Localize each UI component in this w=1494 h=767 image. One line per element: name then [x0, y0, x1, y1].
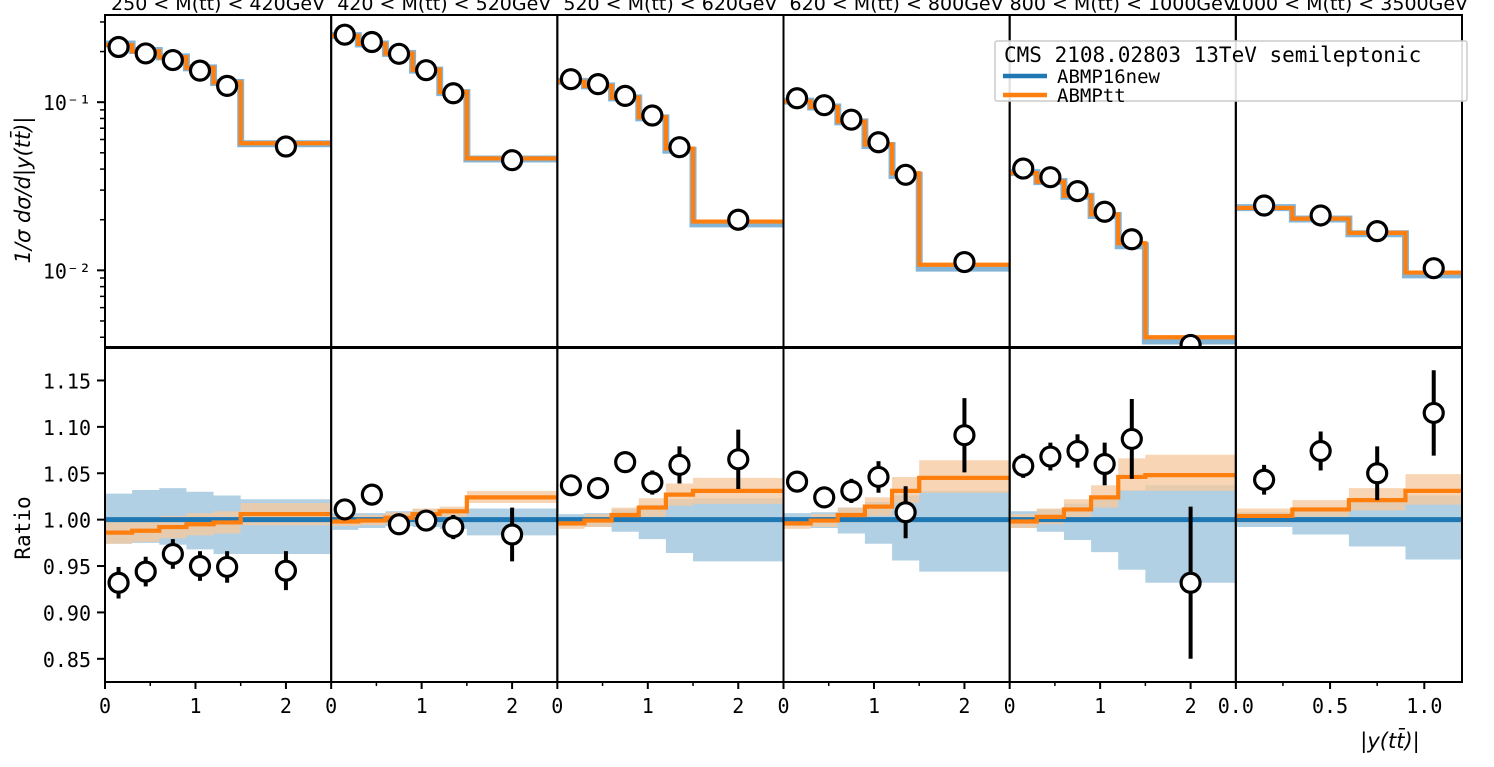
ratio-data-marker: [335, 500, 354, 519]
top-data-marker: [788, 89, 807, 108]
top-data-marker: [1255, 196, 1274, 215]
x-tick-label: 1: [189, 694, 201, 718]
top-data-marker: [842, 110, 861, 129]
top-data-marker: [1095, 202, 1114, 221]
x-tick-label: 0.0: [1218, 694, 1254, 718]
legend: CMS 2108.02803 13TeV semileptonicABMP16n…: [995, 41, 1467, 107]
ratio-data-marker: [1041, 447, 1060, 466]
ratio-data-marker: [561, 476, 580, 495]
ratio-data-marker: [788, 472, 807, 491]
x-tick-label: 0: [777, 694, 789, 718]
top-data-marker: [670, 138, 689, 157]
top-y-tick-label: 10⁻¹: [43, 91, 91, 115]
panel-title-1: 250 < M(tt̄) < 420GeV: [111, 0, 325, 15]
ratio-data-marker: [842, 481, 861, 500]
ratio-data-marker: [1368, 464, 1387, 483]
ratio-data-marker: [729, 450, 748, 469]
ratio-y-tick-label: 1.10: [43, 416, 91, 440]
top-data-marker: [561, 70, 580, 89]
ratio-data-marker: [815, 488, 834, 507]
ratio-data-marker: [1068, 441, 1087, 460]
ratio-data-marker: [218, 557, 237, 576]
top-data-marker: [163, 51, 182, 70]
ratio-data-marker: [670, 455, 689, 474]
ratio-axis-label-group: Ratio: [11, 496, 35, 559]
top-data-marker: [616, 86, 635, 105]
ratio-data-marker: [136, 562, 155, 581]
ratio-y-tick-label: 0.85: [43, 648, 91, 672]
top-y-axis-label: 1/σ dσ/d|y(tt̄)|: [10, 117, 36, 264]
top-data-marker: [1311, 206, 1330, 225]
ratio-data-marker: [1122, 429, 1141, 448]
ratio-data-marker: [1014, 456, 1033, 475]
top-data-marker: [335, 25, 354, 44]
ratio-data-marker: [955, 426, 974, 445]
top-data-marker: [955, 253, 974, 272]
ratio-data-marker: [362, 485, 381, 504]
top-data-marker: [503, 151, 522, 170]
top-data-marker: [390, 44, 409, 63]
x-tick-label: 0: [325, 694, 337, 718]
top-data-marker: [1368, 222, 1387, 241]
x-tick-label: 0: [1004, 694, 1016, 718]
top-data-marker: [218, 76, 237, 95]
x-tick-label: 1: [1094, 694, 1106, 718]
top-data-marker: [417, 61, 436, 80]
top-data-marker: [109, 37, 128, 56]
top-y-tick-label: 10⁻²: [43, 259, 91, 283]
ratio-data-marker: [444, 518, 463, 537]
x-axis-label-group: |y(tt̄)|: [1360, 728, 1419, 754]
ratio-data-marker: [869, 467, 888, 486]
x-tick-label: 1: [416, 694, 428, 718]
figure-background: [0, 0, 1494, 767]
x-tick-label: 2: [958, 694, 970, 718]
top-data-marker: [1014, 159, 1033, 178]
x-tick-label: 1: [868, 694, 880, 718]
top-data-marker: [276, 137, 295, 156]
panel-title-2: 420 < M(tt̄) < 520GeV: [337, 0, 551, 15]
figure-canvas: 1/σ dσ/d|y(tt̄)| Ratio |y(tt̄)| 250 < M(…: [0, 0, 1494, 767]
top-data-marker: [869, 133, 888, 152]
top-data-marker: [589, 75, 608, 94]
panel-title-3: 520 < M(tt̄) < 620GeV: [563, 0, 777, 15]
x-tick-label: 2: [1185, 694, 1197, 718]
ratio-y-tick-label: 1.15: [43, 369, 91, 393]
top-data-marker: [729, 210, 748, 229]
ratio-data-marker: [589, 479, 608, 498]
ratio-y-tick-label: 1.00: [43, 509, 91, 533]
ratio-data-marker: [276, 561, 295, 580]
legend-label-abmptt: ABMPtt: [1057, 85, 1126, 107]
ratio-y-tick-label: 1.05: [43, 462, 91, 486]
ratio-data-marker: [1311, 441, 1330, 460]
top-data-marker: [362, 33, 381, 52]
ratio-y-axis-label: Ratio: [11, 496, 35, 559]
panel-title-4: 620 < M(tt̄) < 800GeV: [790, 0, 1004, 15]
legend-title: CMS 2108.02803 13TeV semileptonic: [1004, 43, 1421, 67]
top-data-marker: [190, 61, 209, 80]
x-tick-label: 0: [99, 694, 111, 718]
x-tick-label: 0: [551, 694, 563, 718]
x-tick-label: 0.5: [1312, 694, 1348, 718]
top-data-marker: [1424, 259, 1443, 278]
ratio-data-marker: [1424, 403, 1443, 422]
ratio-data-marker: [163, 544, 182, 563]
ratio-data-marker: [643, 473, 662, 492]
ratio-data-marker: [1181, 573, 1200, 592]
plot-svg: 1/σ dσ/d|y(tt̄)| Ratio |y(tt̄)| 250 < M(…: [0, 0, 1494, 767]
top-data-marker: [643, 106, 662, 125]
ratio-data-marker: [190, 557, 209, 576]
top-data-marker: [815, 96, 834, 115]
ratio-data-marker: [616, 453, 635, 472]
x-tick-label: 2: [506, 694, 518, 718]
top-data-marker: [1068, 182, 1087, 201]
top-data-marker: [136, 44, 155, 63]
x-tick-label: 1.0: [1406, 694, 1442, 718]
top-axis-label-group: 1/σ dσ/d|y(tt̄)|: [10, 117, 36, 264]
ratio-data-marker: [109, 573, 128, 592]
top-data-marker: [444, 84, 463, 103]
panel-title-5: 800 < M(tt̄) < 1000GeV: [1010, 0, 1236, 15]
ratio-data-marker: [1095, 454, 1114, 473]
x-tick-label: 2: [280, 694, 292, 718]
ratio-data-marker: [503, 525, 522, 544]
ratio-data-marker: [1255, 470, 1274, 489]
panel-title-6: 1000 < M(tt̄) < 3500GeV: [1230, 0, 1468, 15]
top-data-marker: [1041, 168, 1060, 187]
ratio-data-marker: [390, 515, 409, 534]
x-tick-label: 1: [642, 694, 654, 718]
ratio-y-tick-label: 0.95: [43, 555, 91, 579]
x-tick-label: 2: [732, 694, 744, 718]
ratio-data-marker: [417, 511, 436, 530]
top-data-marker: [1122, 230, 1141, 249]
x-axis-label: |y(tt̄)|: [1360, 728, 1419, 754]
ratio-data-marker: [896, 503, 915, 522]
top-data-marker: [896, 165, 915, 184]
ratio-y-tick-label: 0.90: [43, 601, 91, 625]
